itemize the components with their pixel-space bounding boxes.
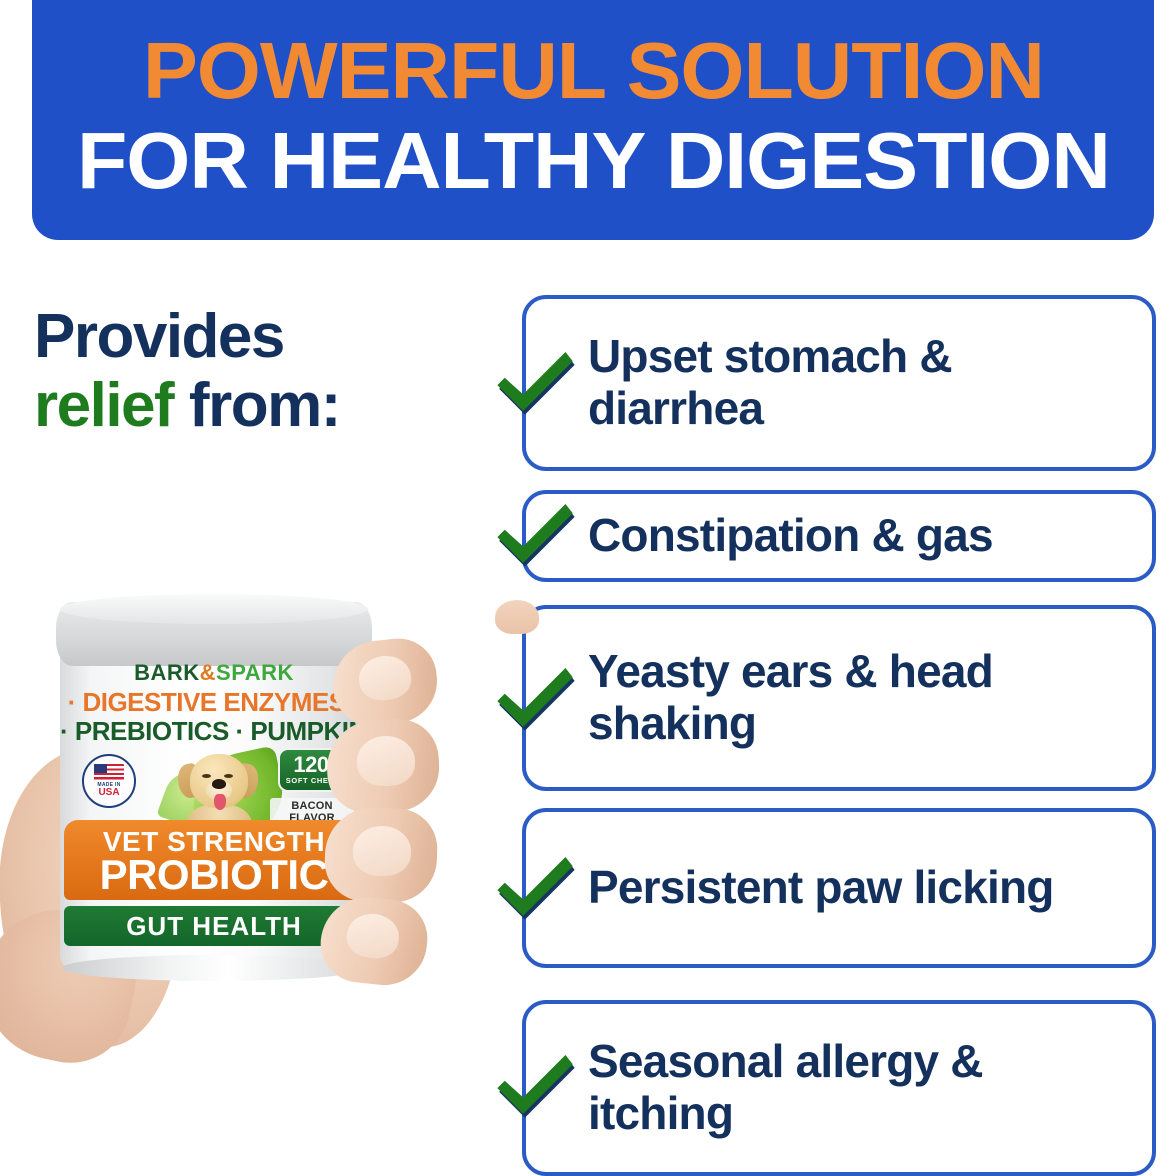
benefit-card-5[interactable]: Seasonal allergy & itching	[522, 1000, 1156, 1176]
product-title-band: VET STRENGTH PROBIOTIC	[64, 820, 364, 900]
usa-flag-icon	[94, 764, 124, 781]
benefit-label: Upset stomach & diarrhea	[526, 331, 1152, 434]
supplement-jar: BARK&SPARK · DIGESTIVE ENZYMES · · PREBI…	[60, 602, 368, 972]
benefit-band: GUT HEALTH	[64, 906, 364, 946]
fingers	[325, 602, 453, 1002]
benefit-card-3[interactable]: Yeasty ears & head shaking	[522, 605, 1156, 791]
made-in-usa-badge: MADE IN USA	[82, 754, 136, 808]
benefit-band-label: GUT HEALTH	[126, 911, 302, 942]
usa-text: USA	[98, 788, 119, 798]
product-photo: BARK&SPARK · DIGESTIVE ENZYMES · · PREBI…	[0, 580, 470, 1170]
brand-logo: BARK&SPARK	[60, 660, 368, 686]
fingernail-2	[357, 736, 415, 786]
product-title-main: PROBIOTIC	[64, 854, 364, 896]
count-number: 120	[293, 755, 328, 776]
infographic-canvas: POWERFUL SOLUTION FOR HEALTHY DIGESTION …	[0, 0, 1172, 1170]
benefit-label: Yeasty ears & head shaking	[526, 646, 1152, 749]
jar-bottom-edge	[62, 955, 366, 981]
fingernail-3	[353, 826, 411, 876]
ingredients-line-1: · DIGESTIVE ENZYMES ·	[60, 687, 368, 718]
benefit-card-4[interactable]: Persistent paw licking	[522, 808, 1156, 968]
benefit-label: Seasonal allergy & itching	[526, 1036, 1152, 1139]
brand-bark: BARK	[134, 660, 200, 685]
benefit-card-2[interactable]: Constipation & gas	[522, 490, 1156, 582]
brand-spark: SPARK	[216, 660, 294, 685]
jar-lid-top	[60, 594, 368, 624]
benefit-card-1[interactable]: Upset stomach & diarrhea	[522, 295, 1156, 471]
finger-top	[495, 600, 539, 634]
benefit-label: Constipation & gas	[526, 510, 1011, 562]
brand-ampersand: &	[200, 660, 216, 685]
benefit-label: Persistent paw licking	[526, 862, 1072, 914]
